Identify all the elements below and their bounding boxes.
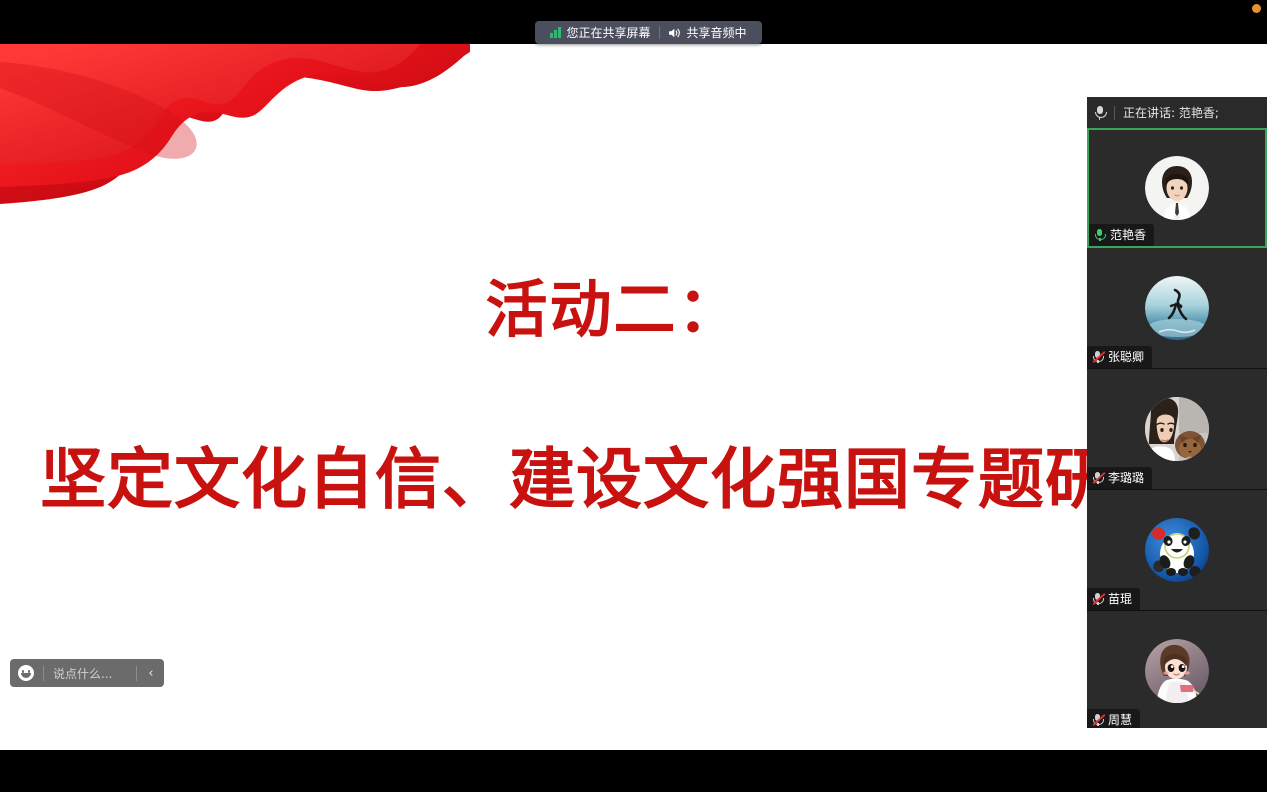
participant-tile[interactable]: 张聪卿: [1087, 248, 1267, 369]
slide-title: 活动二：: [0, 276, 1227, 344]
microphone-on-icon: [1094, 228, 1106, 242]
microphone-muted-icon: [1092, 471, 1104, 485]
toolbar-divider: [659, 26, 660, 39]
composer-divider: [43, 666, 44, 681]
participant-name-badge: 张聪卿: [1087, 346, 1152, 368]
emoji-smiley-icon: [18, 665, 34, 681]
speaker-icon: [668, 27, 681, 39]
participant-tile[interactable]: 周慧: [1087, 611, 1267, 728]
active-speaker-bar: 正在讲话: 范艳香;: [1087, 97, 1267, 128]
microphone-muted-icon: [1092, 592, 1104, 606]
avatar: [1145, 276, 1209, 340]
screen-share-toolbar[interactable]: 您正在共享屏幕 共享音频中: [535, 21, 762, 44]
participant-name: 范艳香: [1110, 226, 1146, 243]
chat-input[interactable]: 说点什么...: [47, 665, 133, 682]
participant-tile[interactable]: 苗琨: [1087, 490, 1267, 611]
participant-name: 周慧: [1108, 711, 1132, 728]
avatar: [1145, 156, 1209, 220]
signal-bars-icon: [550, 27, 561, 38]
microphone-muted-icon: [1092, 350, 1104, 364]
avatar: [1145, 397, 1209, 461]
participant-tile[interactable]: 范艳香: [1087, 128, 1267, 248]
sharing-screen-status: 您正在共享屏幕: [544, 24, 657, 41]
shared-screen-slide: 活动二： 坚定文化自信、建设文化强国专题研讨: [0, 44, 1267, 750]
status-indicator-dot: [1252, 4, 1261, 13]
red-flag-decoration: [0, 44, 470, 204]
chevron-left-icon[interactable]: ‹: [140, 659, 162, 687]
participant-tile[interactable]: 李璐璐: [1087, 369, 1267, 490]
sharing-audio-status: 共享音频中: [662, 24, 753, 41]
participant-name: 张聪卿: [1108, 348, 1144, 365]
avatar: [1145, 639, 1209, 703]
composer-divider: [136, 666, 137, 681]
slide-heading: 坚定文化自信、建设文化强国专题研讨: [40, 442, 1179, 518]
active-speaker-label: 正在讲话: 范艳香;: [1123, 104, 1219, 121]
participant-name-badge: 李璐璐: [1087, 467, 1152, 489]
microphone-icon: [1093, 105, 1106, 121]
participant-name-badge: 范艳香: [1089, 224, 1154, 246]
avatar: [1145, 518, 1209, 582]
meeting-stage: 活动二： 坚定文化自信、建设文化强国专题研讨 您正在共享屏幕 共享音频中: [0, 0, 1267, 792]
emoji-picker-button[interactable]: [12, 659, 40, 687]
participant-name-badge: 苗琨: [1087, 588, 1140, 610]
participants-panel[interactable]: 正在讲话: 范艳香;: [1087, 97, 1267, 728]
speaking-bar-divider: [1114, 106, 1115, 120]
chat-composer[interactable]: 说点什么... ‹: [10, 659, 164, 687]
microphone-muted-icon: [1092, 713, 1104, 727]
sharing-screen-label: 您正在共享屏幕: [567, 24, 651, 41]
sharing-audio-label: 共享音频中: [687, 24, 747, 41]
participant-name: 苗琨: [1108, 590, 1132, 607]
participant-name: 李璐璐: [1108, 469, 1144, 486]
participant-name-badge: 周慧: [1087, 709, 1140, 728]
